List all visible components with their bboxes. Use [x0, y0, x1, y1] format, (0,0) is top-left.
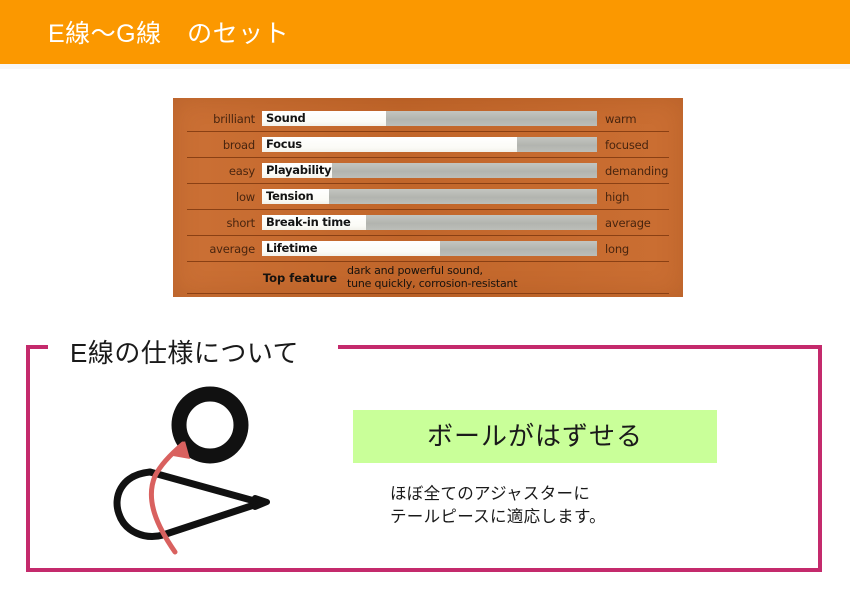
panel-note: ほぼ全てのアジャスターに テールピースに適応します。: [390, 483, 606, 529]
header-divider: [0, 64, 850, 69]
panel-note-line-2: テールピースに適応します。: [390, 506, 606, 529]
spec-parameter-name: Playability: [266, 163, 331, 178]
spec-left-label: average: [187, 242, 262, 256]
spec-parameter-name: Tension: [266, 189, 313, 204]
spec-right-label: focused: [597, 138, 669, 152]
spec-right-label: average: [597, 216, 669, 230]
string-spec-chart: brilliantSoundwarmbroadFocusfocusedeasyP…: [173, 98, 683, 297]
string-loop-icon: [117, 472, 267, 536]
top-feature-line-2: tune quickly, corrosion-resistant: [347, 278, 517, 291]
ball-end-diagram: [95, 380, 315, 560]
spec-row-list: brilliantSoundwarmbroadFocusfocusedeasyP…: [173, 106, 683, 294]
callout-box: ボールがはずせる: [353, 410, 717, 463]
page-header: E線〜G線 のセット: [0, 0, 850, 64]
spec-row: shortBreak-in timeaverage: [187, 210, 669, 236]
spec-right-label: demanding: [597, 164, 669, 178]
spec-right-label: long: [597, 242, 669, 256]
top-feature-line-1: dark and powerful sound,: [347, 265, 517, 278]
spec-row: lowTensionhigh: [187, 184, 669, 210]
spec-row: averageLifetimelong: [187, 236, 669, 262]
page-title: E線〜G線 のセット: [48, 14, 289, 50]
spec-scale-track: Playability: [262, 163, 597, 178]
spec-right-label: high: [597, 190, 669, 204]
top-feature-text: dark and powerful sound,tune quickly, co…: [347, 265, 517, 290]
spec-left-label: broad: [187, 138, 262, 152]
panel-title: E線の仕様について: [70, 333, 299, 370]
spec-left-label: easy: [187, 164, 262, 178]
spec-parameter-name: Focus: [266, 137, 302, 152]
spec-scale-track: Focus: [262, 137, 597, 152]
spec-right-label: warm: [597, 112, 669, 126]
spec-parameter-name: Lifetime: [266, 241, 317, 256]
spec-left-label: short: [187, 216, 262, 230]
spec-scale-track: Tension: [262, 189, 597, 204]
panel-note-line-1: ほぼ全てのアジャスターに: [390, 483, 606, 506]
spec-row: easyPlayabilitydemanding: [187, 158, 669, 184]
spec-scale-track: Break-in time: [262, 215, 597, 230]
spec-parameter-name: Break-in time: [266, 215, 351, 230]
spec-row: broadFocusfocused: [187, 132, 669, 158]
top-feature-row: Top featuredark and powerful sound,tune …: [187, 262, 669, 294]
spec-left-label: brilliant: [187, 112, 262, 126]
spec-scale-track: Lifetime: [262, 241, 597, 256]
spec-row: brilliantSoundwarm: [187, 106, 669, 132]
spec-scale-track: Sound: [262, 111, 597, 126]
spec-parameter-name: Sound: [266, 111, 306, 126]
spec-left-label: low: [187, 190, 262, 204]
top-feature-label: Top feature: [187, 271, 347, 285]
callout-text: ボールがはずせる: [353, 410, 717, 463]
ball-end-ring-icon: [179, 394, 241, 456]
